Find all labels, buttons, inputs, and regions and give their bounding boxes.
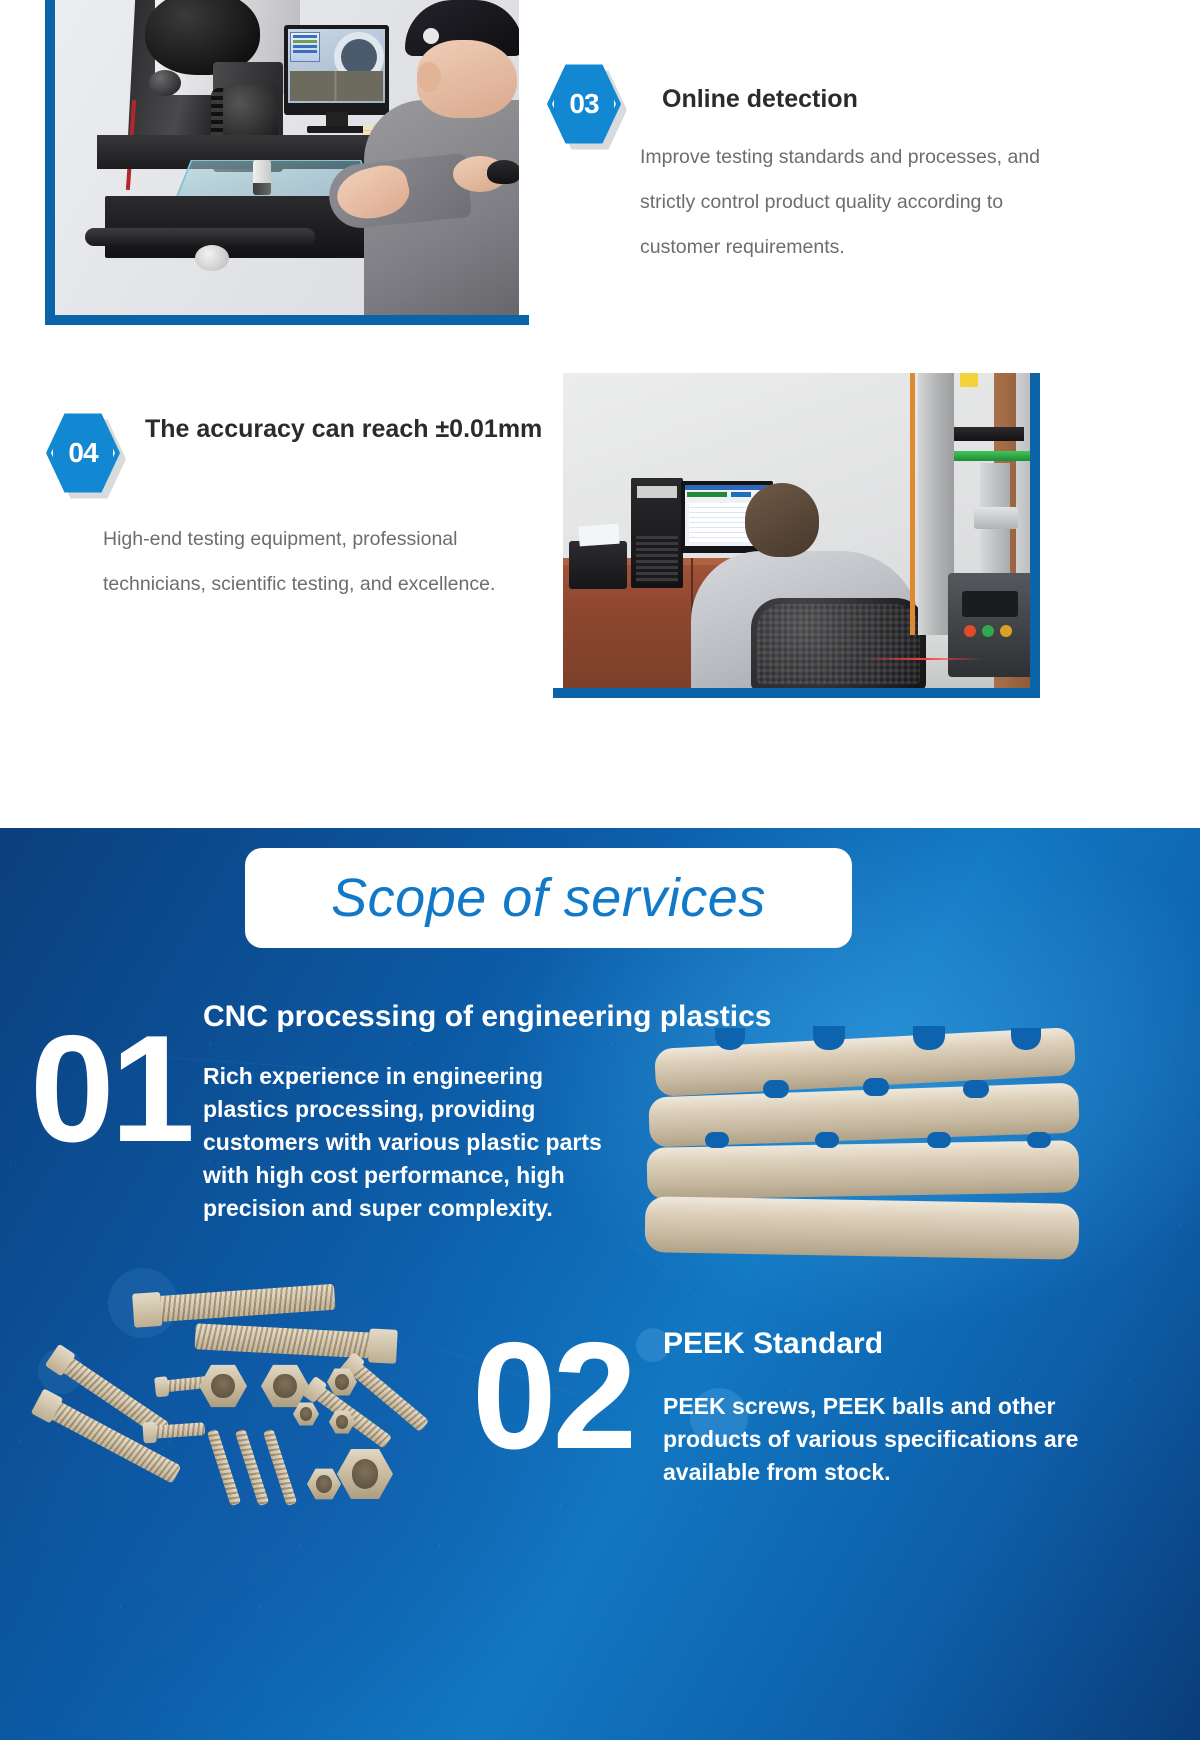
feature-badge-number: 03	[547, 62, 621, 146]
photo-frame-accent-left	[45, 0, 55, 325]
photo-tensile-lab-image	[563, 373, 1040, 688]
feature-badge-04: 04	[46, 411, 120, 495]
page-root: VML300	[0, 0, 1200, 1740]
service-number-02: 02	[472, 1320, 633, 1472]
photo-tensile-lab	[553, 373, 1040, 698]
scope-heading-text: Scope of services	[245, 848, 852, 948]
photo-frame-accent-right	[1030, 373, 1040, 698]
scope-heading-card: Scope of services	[245, 848, 852, 948]
product-image-chain-plates	[645, 1020, 1075, 1275]
feature-body-online-detection: Improve testing standards and processes,…	[640, 135, 1040, 270]
photo-measuring-machine-image: VML300	[45, 0, 519, 315]
photo-frame-accent-bottom	[553, 688, 1040, 698]
photo-measuring-machine: VML300	[45, 0, 529, 325]
service-body-cnc: Rich experience in engineering plastics …	[203, 1060, 623, 1225]
feature-badge-03: 03	[547, 62, 621, 146]
service-number-01: 01	[30, 1013, 191, 1165]
feature-body-accuracy: High-end testing equipment, professional…	[103, 517, 533, 607]
feature-title-online-detection: Online detection	[662, 80, 1092, 118]
product-image-peek-screws	[45, 1270, 475, 1530]
feature-badge-number: 04	[46, 411, 120, 495]
feature-title-accuracy: The accuracy can reach ±0.01mm	[145, 410, 545, 448]
features-section: VML300	[0, 0, 1200, 828]
photo-frame-accent-bottom	[45, 315, 529, 325]
service-title-peek: PEEK Standard	[663, 1327, 883, 1361]
service-body-peek: PEEK screws, PEEK balls and other produc…	[663, 1390, 1083, 1489]
